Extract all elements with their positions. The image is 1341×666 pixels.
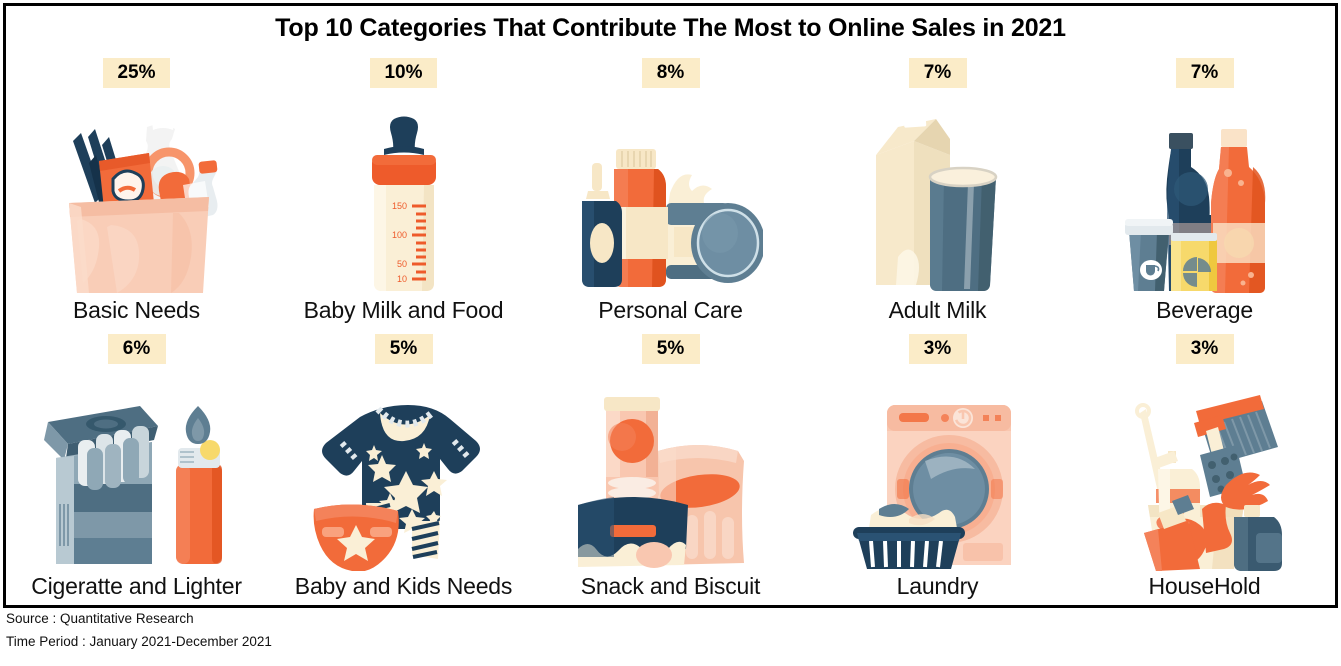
percent-badge: 3% bbox=[1176, 334, 1234, 364]
washing-machine-icon bbox=[853, 399, 1023, 571]
snack-icon bbox=[576, 393, 766, 571]
category-cell-beverage[interactable]: 7% bbox=[1071, 52, 1338, 328]
category-illustration bbox=[537, 88, 804, 297]
percent-badge: 5% bbox=[642, 334, 700, 364]
category-label: Baby Milk and Food bbox=[304, 297, 504, 328]
baby-bottle-icon: 150 100 50 10 bbox=[354, 115, 454, 295]
percent-badge: 7% bbox=[909, 58, 967, 88]
category-label: Cigeratte and Lighter bbox=[31, 573, 242, 604]
category-cell-personal-care[interactable]: 8% bbox=[537, 52, 804, 328]
category-cell-cigeratte-and-lighter[interactable]: 6% bbox=[3, 328, 270, 604]
percent-badge: 6% bbox=[108, 334, 166, 364]
source-note: Source : Quantitative Research bbox=[6, 612, 1326, 626]
category-cell-household[interactable]: 3% bbox=[1071, 328, 1338, 604]
svg-text:10: 10 bbox=[396, 274, 406, 284]
category-cell-laundry[interactable]: 3% bbox=[804, 328, 1071, 604]
category-illustration bbox=[804, 364, 1071, 573]
category-label: HouseHold bbox=[1149, 573, 1261, 604]
svg-text:150: 150 bbox=[391, 201, 406, 211]
category-row: 6% bbox=[3, 328, 1338, 604]
category-illustration bbox=[3, 364, 270, 573]
category-label: Adult Milk bbox=[889, 297, 987, 328]
grocery-bag-icon bbox=[51, 115, 223, 295]
time-period-note: Time Period : January 2021-December 2021 bbox=[6, 635, 1326, 649]
category-label: Beverage bbox=[1156, 297, 1253, 328]
baby-clothes-icon bbox=[308, 399, 500, 571]
milk-carton-icon bbox=[868, 115, 1008, 295]
page-title: Top 10 Categories That Contribute The Mo… bbox=[0, 14, 1341, 43]
cleaning-supplies-icon bbox=[1122, 393, 1287, 571]
beverage-icon bbox=[1125, 115, 1285, 295]
category-label: Personal Care bbox=[598, 297, 742, 328]
category-label: Snack and Biscuit bbox=[581, 573, 760, 604]
category-cell-adult-milk[interactable]: 7% bbox=[804, 52, 1071, 328]
cigarette-pack-icon bbox=[34, 396, 239, 571]
svg-text:100: 100 bbox=[391, 230, 406, 240]
percent-badge: 10% bbox=[370, 58, 436, 88]
category-cell-baby-milk-and-food[interactable]: 10% bbox=[270, 52, 537, 328]
category-illustration bbox=[1071, 88, 1338, 297]
category-illustration: 150 100 50 10 bbox=[270, 88, 537, 297]
percent-badge: 25% bbox=[103, 58, 169, 88]
percent-badge: 8% bbox=[642, 58, 700, 88]
infographic-page: Top 10 Categories That Contribute The Mo… bbox=[0, 0, 1341, 666]
category-cell-baby-and-kids-needs[interactable]: 5% bbox=[270, 328, 537, 604]
category-illustration bbox=[3, 88, 270, 297]
category-illustration bbox=[804, 88, 1071, 297]
svg-text:50: 50 bbox=[396, 259, 406, 269]
category-row: 25% bbox=[3, 52, 1338, 328]
personal-care-icon bbox=[578, 115, 763, 295]
category-illustration bbox=[270, 364, 537, 573]
category-cell-basic-needs[interactable]: 25% bbox=[3, 52, 270, 328]
category-label: Baby and Kids Needs bbox=[295, 573, 512, 604]
category-cell-snack-and-biscuit[interactable]: 5% bbox=[537, 328, 804, 604]
category-label: Basic Needs bbox=[73, 297, 200, 328]
percent-badge: 7% bbox=[1176, 58, 1234, 88]
category-label: Laundry bbox=[897, 573, 979, 604]
category-illustration bbox=[537, 364, 804, 573]
footer: Source : Quantitative Research Time Peri… bbox=[6, 612, 1326, 657]
category-grid: 25% bbox=[3, 52, 1338, 604]
percent-badge: 3% bbox=[909, 334, 967, 364]
percent-badge: 5% bbox=[375, 334, 433, 364]
category-illustration bbox=[1071, 364, 1338, 573]
